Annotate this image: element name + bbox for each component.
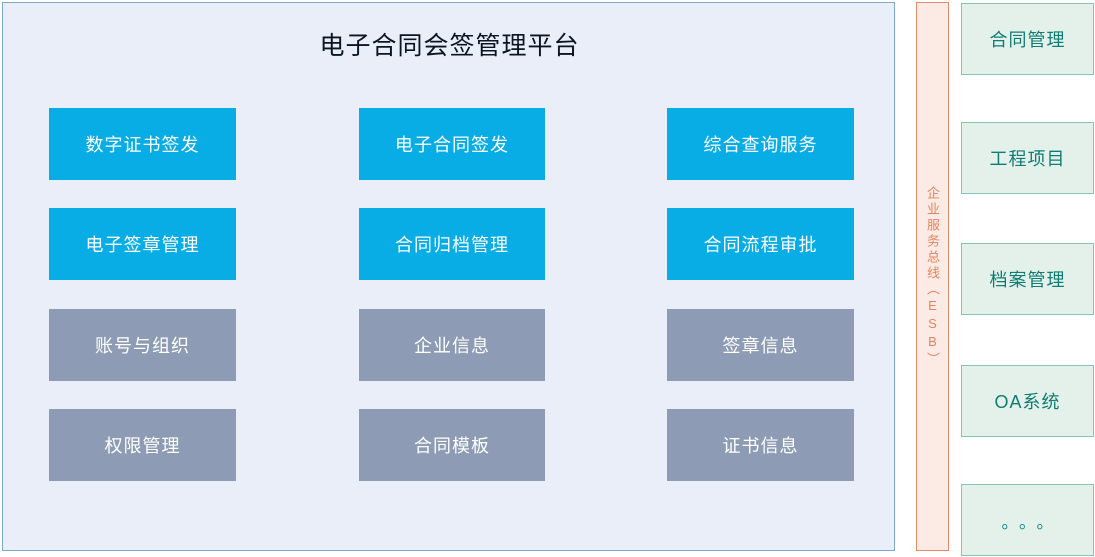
module-enterprise-information[interactable]: 企业信息 — [359, 309, 545, 381]
module-account-and-organization[interactable]: 账号与组织 — [49, 309, 236, 381]
esb-label: 企业服务总线（ESB） — [924, 186, 941, 368]
system-card-oa-system[interactable]: OA系统 — [961, 365, 1094, 437]
diagram-canvas: 电子合同会签管理平台 数字证书签发 电子签章管理 账号与组织 权限管理 电子合同… — [0, 0, 1095, 557]
module-permission-management[interactable]: 权限管理 — [49, 409, 236, 481]
module-certificate-information[interactable]: 证书信息 — [667, 409, 854, 481]
module-comprehensive-query-service[interactable]: 综合查询服务 — [667, 108, 854, 180]
system-card-contract-management[interactable]: 合同管理 — [961, 3, 1094, 75]
enterprise-service-bus: 企业服务总线（ESB） — [916, 2, 949, 551]
ellipsis-icon: 。。。 — [993, 508, 1063, 533]
module-electronic-seal-management[interactable]: 电子签章管理 — [49, 208, 236, 280]
module-contract-process-approval[interactable]: 合同流程审批 — [667, 208, 854, 280]
module-contract-template[interactable]: 合同模板 — [359, 409, 545, 481]
system-card-archive-management[interactable]: 档案管理 — [961, 243, 1094, 315]
module-seal-information[interactable]: 签章信息 — [667, 309, 854, 381]
page-title: 电子合同会签管理平台 — [3, 29, 896, 63]
system-card-more[interactable]: 。。。 — [961, 484, 1094, 556]
platform-panel: 电子合同会签管理平台 数字证书签发 电子签章管理 账号与组织 权限管理 电子合同… — [2, 2, 895, 551]
module-contract-archive-management[interactable]: 合同归档管理 — [359, 208, 545, 280]
system-card-engineering-project[interactable]: 工程项目 — [961, 122, 1094, 194]
module-digital-certificate-issuance[interactable]: 数字证书签发 — [49, 108, 236, 180]
module-electronic-contract-issuance[interactable]: 电子合同签发 — [359, 108, 545, 180]
